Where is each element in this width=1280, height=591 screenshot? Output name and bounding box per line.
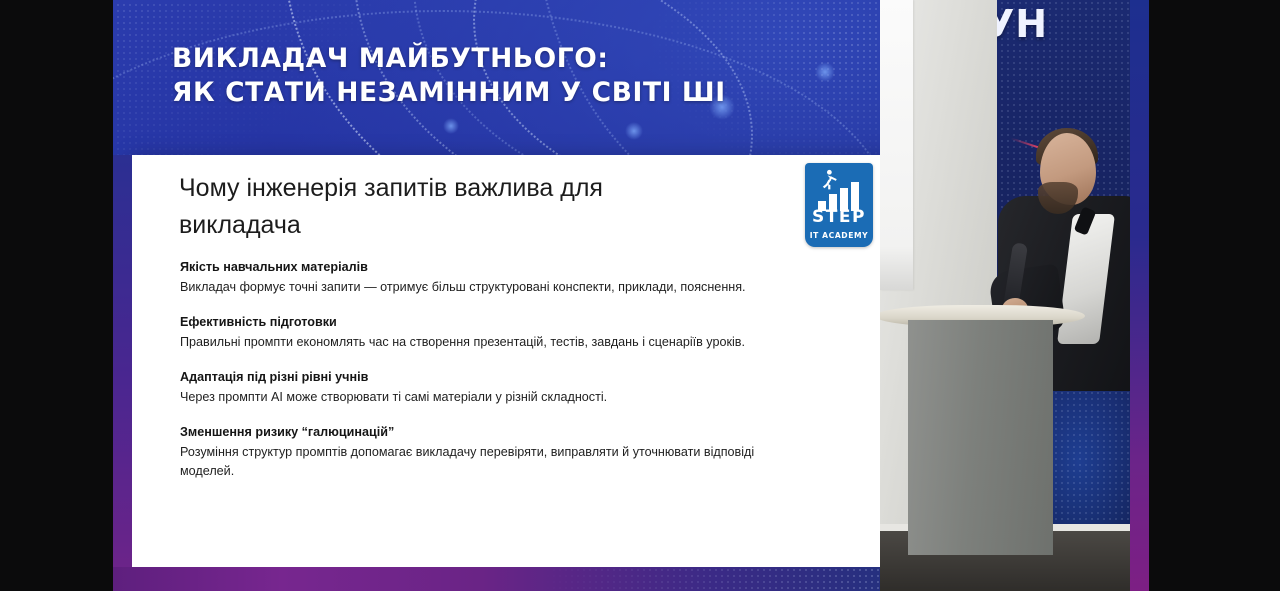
content-block-text: Правильні промпти економлять час на ство… xyxy=(180,333,755,352)
logo-subtitle: IT ACADEMY xyxy=(805,231,873,240)
content-block: Якість навчальних матеріалів Викладач фо… xyxy=(180,258,755,297)
podium-body xyxy=(908,320,1053,555)
letterbox-left xyxy=(0,0,113,591)
content-block-heading: Ефективність підготовки xyxy=(180,313,755,331)
speaker-camera-feed: УН xyxy=(880,0,1149,591)
projection-screen xyxy=(880,0,913,290)
step-it-academy-logo: STEP IT ACADEMY xyxy=(805,163,873,247)
slide-card-body: Якість навчальних матеріалів Викладач фо… xyxy=(180,258,755,481)
content-block-heading: Адаптація під різні рівні учнів xyxy=(180,368,755,386)
content-block: Ефективність підготовки Правильні промпт… xyxy=(180,313,755,352)
slide-footer-band xyxy=(113,567,880,591)
presentation-slide: ВИКЛАДАЧ МАЙБУТНЬОГО: ЯК СТАТИ НЕЗАМІННИ… xyxy=(113,0,880,591)
slide-card-title: Чому інженерія запитів важлива для викла… xyxy=(179,170,719,244)
content-block-heading: Зменшення ризику “галюцинацій” xyxy=(180,423,755,441)
content-block-heading: Якість навчальних матеріалів xyxy=(180,258,755,276)
screen-share-stage: ВИКЛАДАЧ МАЙБУТНЬОГО: ЯК СТАТИ НЕЗАМІННИ… xyxy=(0,0,1280,591)
content-block: Адаптація під різні рівні учнів Через пр… xyxy=(180,368,755,407)
slide-left-rail xyxy=(113,155,132,567)
content-block: Зменшення ризику “галюцинацій” Розуміння… xyxy=(180,423,755,481)
content-block-text: Через промпти AI може створювати ті самі… xyxy=(180,388,755,407)
slide-headline: ВИКЛАДАЧ МАЙБУТНЬОГО: ЯК СТАТИ НЕЗАМІННИ… xyxy=(172,42,812,110)
content-block-text: Розуміння структур промптів допомагає ви… xyxy=(180,443,755,481)
content-block-text: Викладач формує точні запити — отримує б… xyxy=(180,278,755,297)
logo-wordmark: STEP xyxy=(805,207,873,227)
camera-frame-rail xyxy=(1130,0,1149,591)
letterbox-right xyxy=(1149,0,1280,591)
footer-halftone-texture xyxy=(113,567,880,591)
slide-content-card: Чому інженерія запитів важлива для викла… xyxy=(132,155,880,567)
